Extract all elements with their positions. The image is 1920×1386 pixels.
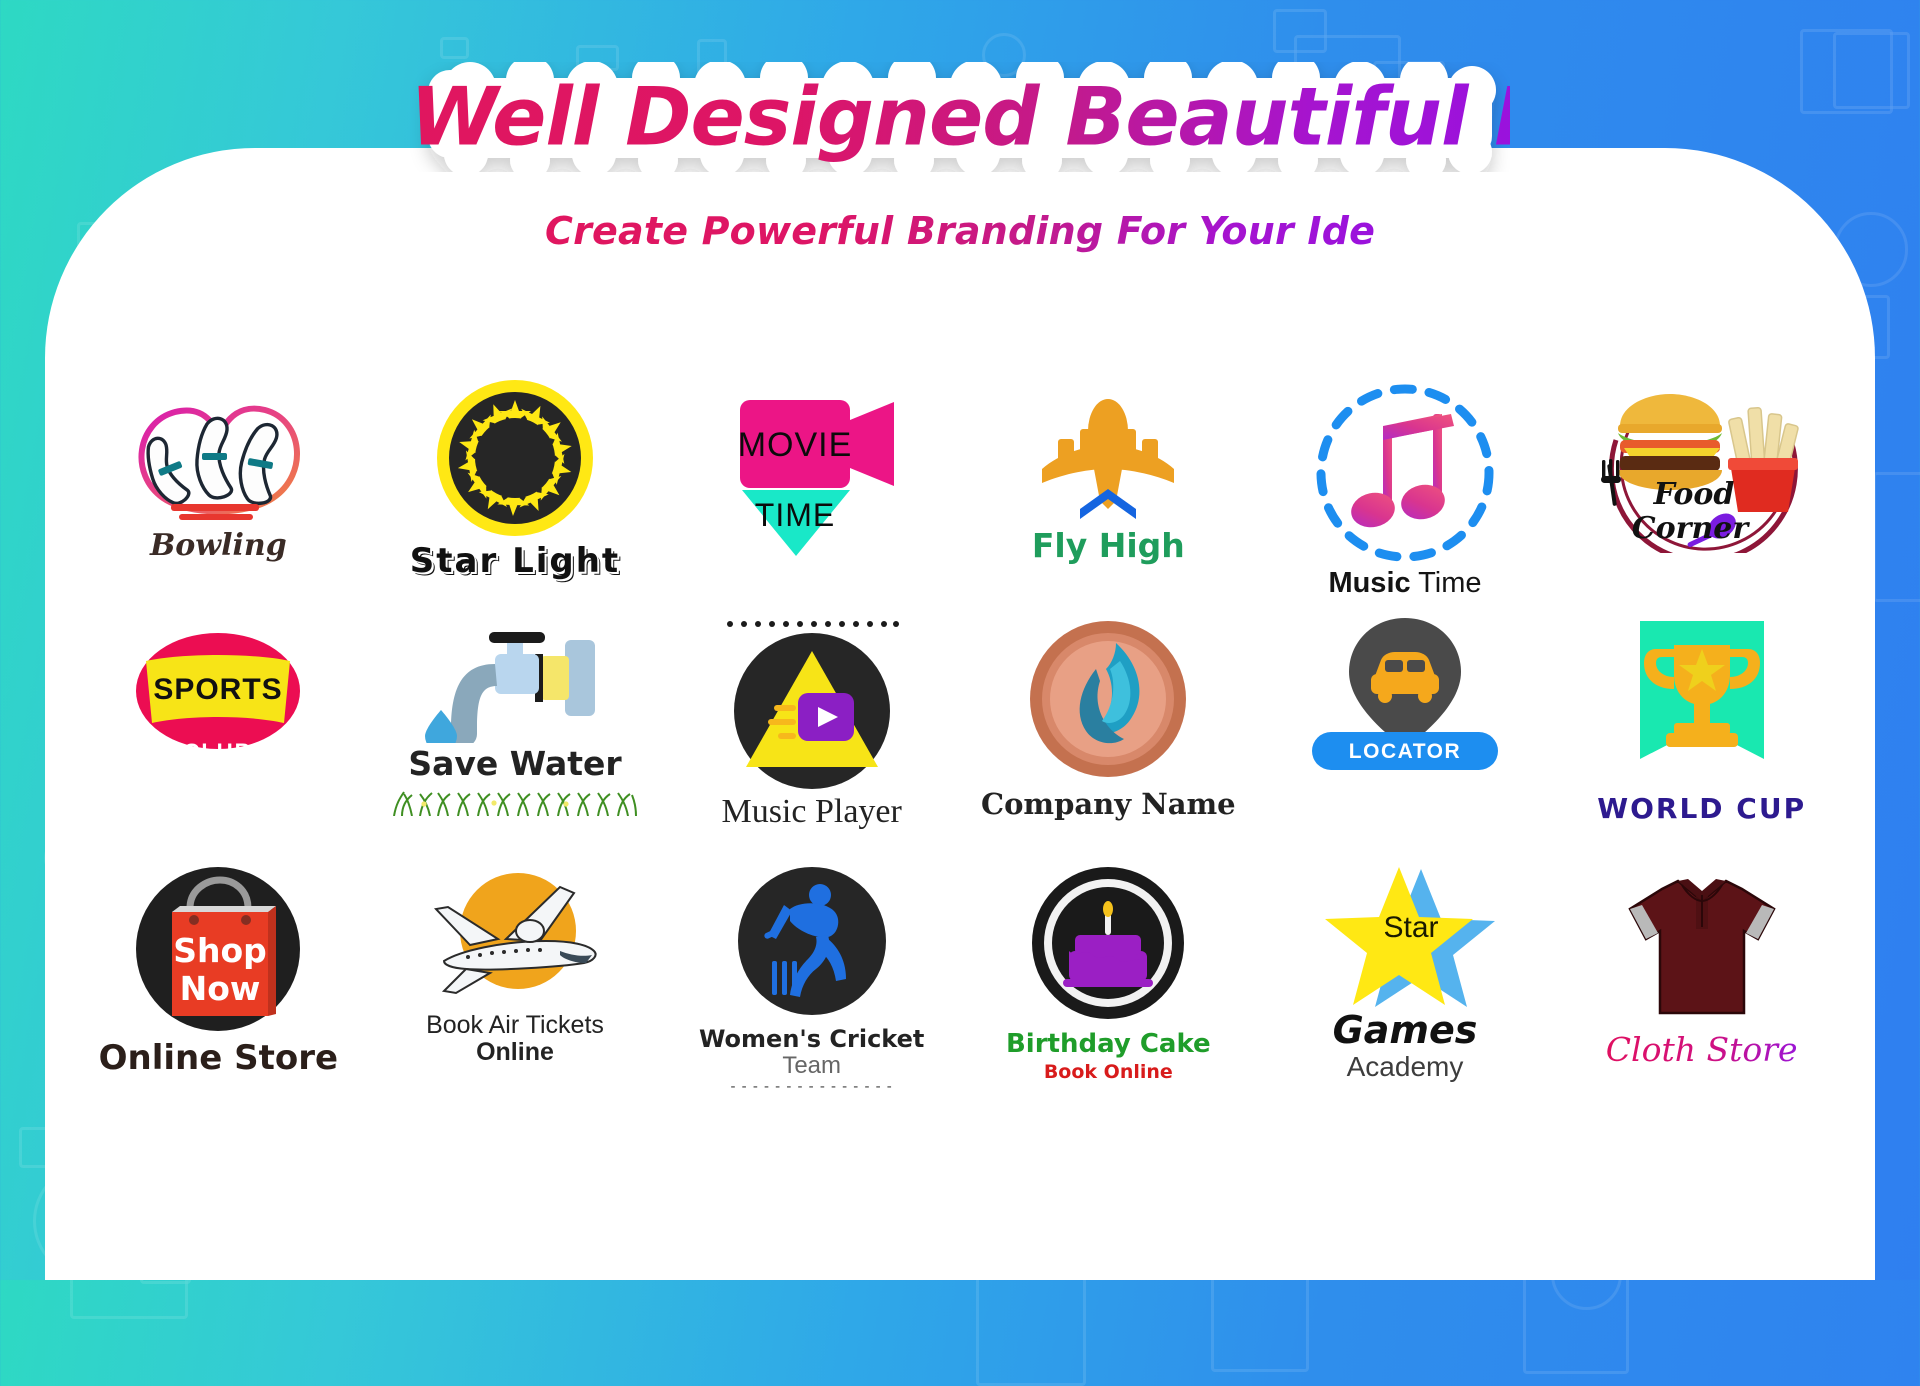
- logo-caption: Music Player: [721, 794, 901, 831]
- page-subtitle: Create Powerful Branding For Your Idea: [545, 209, 1375, 253]
- header: Well Designed Beautiful Logo Create Powe…: [0, 0, 1920, 300]
- logo-card-music-time[interactable]: Music Time: [1257, 378, 1554, 614]
- svg-text:Shop: Shop: [174, 931, 268, 970]
- svg-text:Corner: Corner: [1632, 511, 1751, 546]
- logo-card-save-water[interactable]: Save Water: [367, 614, 664, 862]
- grass-decoration-icon: [390, 790, 640, 816]
- logo-caption-line2: Online: [476, 1039, 554, 1066]
- logo-card-sports-club[interactable]: SPORTS CLUB: [70, 614, 367, 862]
- logo-caption: Star Light: [410, 543, 620, 580]
- page-title: Well Designed Beautiful Logo: [410, 71, 1510, 164]
- logo-card-movie-time[interactable]: MOVIE TIME: [663, 378, 960, 614]
- pattern-box-icon: [1873, 472, 1920, 602]
- logo-caption-line2: Book Online: [1044, 1062, 1173, 1083]
- locator-pill-badge: LOCATOR: [1310, 730, 1500, 772]
- bowling-pins-icon: [123, 378, 313, 528]
- logo-card-womens-cricket[interactable]: Women's Cricket Team - - - - - - - - - -…: [663, 862, 960, 1112]
- svg-text:CLUB: CLUB: [184, 739, 253, 764]
- svg-text:Star: Star: [1383, 911, 1438, 944]
- logo-caption-line1: Book Air Tickets: [426, 1012, 604, 1039]
- svg-text:Food: Food: [1653, 477, 1735, 512]
- logo-caption-line1: Birthday Cake: [1006, 1030, 1211, 1058]
- airplane-top-icon: [1018, 383, 1198, 523]
- music-time-light: Time: [1418, 567, 1481, 599]
- double-star-icon: Star: [1315, 863, 1495, 1009]
- logo-caption: Cloth Store: [1606, 1032, 1798, 1068]
- music-note-dashed-circle-icon: [1305, 378, 1505, 568]
- logo-caption: WORLD CUP: [1597, 794, 1806, 824]
- airplane-side-icon: [410, 865, 620, 1010]
- logo-caption: Save Water: [408, 746, 621, 782]
- logo-grid: Bowling: [70, 378, 1850, 1112]
- subtitle-cloud-banner: Create Powerful Branding For Your Idea: [545, 185, 1375, 277]
- logo-caption-line2: Academy: [1347, 1052, 1464, 1082]
- logo-card-fly-high[interactable]: Fly High: [960, 378, 1257, 614]
- logo-caption-rule: - - - - - - - - - - - - - - -: [731, 1079, 893, 1095]
- svg-text:Now: Now: [180, 969, 261, 1008]
- logo-card-star-games[interactable]: Star Games Academy: [1257, 862, 1554, 1112]
- logo-card-company-name[interactable]: Company Name: [960, 614, 1257, 862]
- music-time-bold: Music: [1328, 567, 1410, 599]
- logo-card-birthday-cake[interactable]: Birthday Cake Book Online: [960, 862, 1257, 1112]
- logo-card-book-air[interactable]: Book Air Tickets Online: [367, 862, 664, 1112]
- cricket-player-icon: [728, 865, 896, 1025]
- flame-circle-icon: [1020, 617, 1196, 787]
- logo-caption: Bowling: [150, 530, 287, 562]
- burger-fries-icon: Food Corner: [1594, 378, 1809, 553]
- logo-card-star-light[interactable]: Star Light: [367, 378, 664, 614]
- dotted-line-decoration-icon: [724, 617, 900, 631]
- logo-card-food-corner[interactable]: Food Corner: [1553, 378, 1850, 614]
- pattern-box-icon: [1211, 1269, 1309, 1372]
- logo-card-bowling[interactable]: Bowling: [70, 378, 367, 614]
- logo-caption: Company Name: [981, 789, 1236, 820]
- svg-text:MOVIE: MOVIE: [737, 426, 852, 464]
- logo-card-cloth-store[interactable]: Cloth Store: [1553, 862, 1850, 1112]
- logo-card-online-store[interactable]: Shop Now Online Store: [70, 862, 367, 1112]
- title-cloud-banner: Well Designed Beautiful Logo: [410, 62, 1510, 172]
- svg-text:LOCATOR: LOCATOR: [1349, 740, 1461, 763]
- logo-caption-line1: Games: [1333, 1010, 1478, 1051]
- water-tap-icon: [415, 618, 615, 743]
- birthday-cake-icon: [1023, 865, 1193, 1027]
- shopping-bag-icon: Shop Now: [128, 864, 308, 1039]
- polo-shirt-icon: [1612, 865, 1792, 1030]
- logo-card-music-player[interactable]: Music Player: [663, 614, 960, 862]
- logo-caption: Online Store: [99, 1040, 338, 1077]
- logo-caption-line1: Women's Cricket: [699, 1027, 924, 1053]
- video-camera-icon: MOVIE TIME: [712, 378, 912, 578]
- logo-card-world-cup[interactable]: WORLD CUP: [1553, 614, 1850, 862]
- logo-caption-line2: Team: [782, 1053, 841, 1079]
- sports-banner-icon: SPORTS CLUB: [118, 619, 318, 789]
- trophy-ribbon-icon: [1614, 617, 1790, 792]
- svg-text:TIME: TIME: [754, 497, 834, 533]
- svg-text:SPORTS: SPORTS: [154, 673, 283, 706]
- logo-caption: Music Time: [1328, 568, 1481, 599]
- logo-card-locator[interactable]: LOCATOR: [1257, 614, 1554, 862]
- star-circle-icon: [429, 378, 601, 543]
- play-triangle-icon: [722, 631, 902, 791]
- logo-caption: Fly High: [1032, 528, 1185, 564]
